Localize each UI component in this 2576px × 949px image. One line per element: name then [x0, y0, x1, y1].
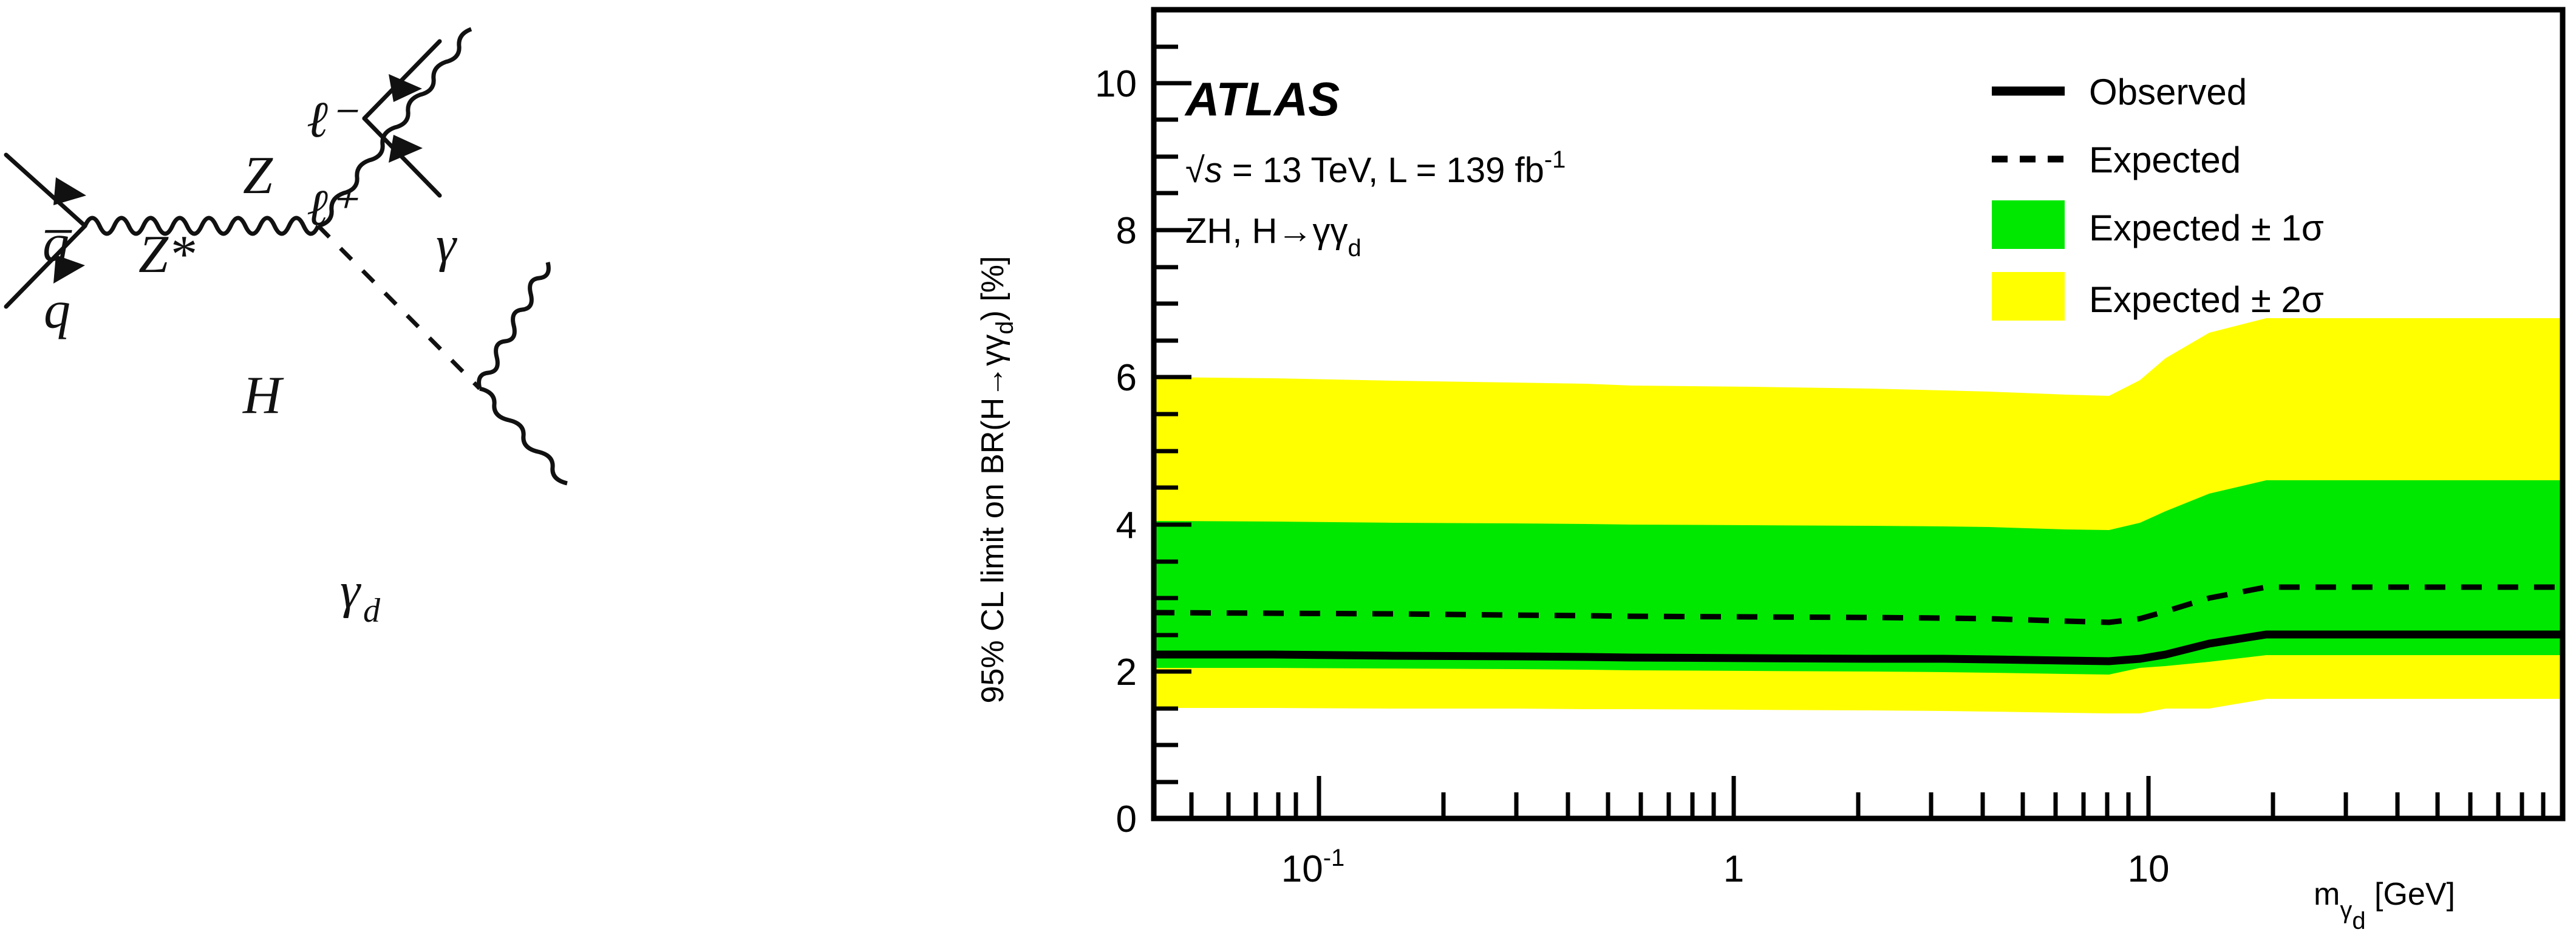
- lepton-minus-label: ℓ⁻: [307, 92, 358, 148]
- y-tick-10: 10: [1095, 63, 1137, 105]
- y-title-arrow: →: [975, 366, 1010, 398]
- z-boson-label: Z: [243, 146, 273, 205]
- feynman-background: [0, 0, 972, 949]
- process-part-a: ZH, H: [1185, 211, 1277, 251]
- x-title-sub-gamma: γ: [2340, 897, 2352, 923]
- energy-lumi-text: = 13 TeV, L = 139 fb: [1222, 151, 1544, 190]
- lepton-plus-label: ℓ⁺: [307, 180, 358, 236]
- energy-lumi-line: √s = 13 TeV, L = 139 fb-1: [1185, 146, 1566, 190]
- y-tick-6: 6: [1116, 357, 1137, 399]
- feynman-diagram-panel: q̅ q Z* Z ℓ⁻ ℓ⁺ H γ γ d: [0, 0, 972, 949]
- process-sub-d: d: [1348, 235, 1361, 262]
- atlas-label: ATLAS: [1184, 72, 1340, 126]
- sqrt-s-symbol: √s: [1185, 151, 1222, 190]
- y-tick-8: 8: [1116, 210, 1137, 252]
- y-title-sub-d: d: [992, 321, 1018, 334]
- lumi-exponent: -1: [1544, 146, 1566, 173]
- x-title-sub-d: d: [2352, 908, 2365, 934]
- y-tick-4: 4: [1116, 505, 1137, 546]
- y-title-close: ) [%]: [975, 256, 1010, 321]
- y-tick-0: 0: [1116, 798, 1137, 840]
- legend-label-observed: Observed: [2089, 72, 2247, 112]
- x-tick-10: 10: [2128, 848, 2170, 890]
- process-part-b: γγ: [1312, 211, 1348, 251]
- figure-root: q̅ q Z* Z ℓ⁻ ℓ⁺ H γ γ d 95% CL limit on …: [0, 0, 2576, 949]
- higgs-label: H: [242, 366, 284, 425]
- y-title-part-a: 95% CL limit on BR(H: [975, 398, 1010, 704]
- svg-text:d: d: [363, 592, 381, 630]
- legend-label-expected: Expected: [2089, 140, 2241, 180]
- legend-marker-2sigma: [1992, 272, 2065, 321]
- antiquark-label: q̅: [43, 214, 72, 273]
- legend-marker-1sigma: [1992, 200, 2065, 249]
- legend-label-1sigma: Expected ± 1σ: [2089, 208, 2324, 248]
- legend-label-2sigma: Expected ± 2σ: [2089, 279, 2324, 320]
- x-tick-0p1-mantissa: 10: [1281, 848, 1323, 890]
- z-star-label: Z*: [138, 225, 195, 284]
- limit-plot-panel: 95% CL limit on BR(H→γγd) [%]: [972, 0, 2576, 949]
- x-tick-1: 1: [1723, 848, 1744, 890]
- photon-label: γ: [436, 216, 457, 273]
- x-title-unit: [GeV]: [2366, 877, 2455, 912]
- y-title-gg: γγ: [975, 335, 1010, 366]
- x-title-m: m: [2314, 877, 2340, 912]
- x-tick-0p1-exponent: -1: [1323, 845, 1345, 871]
- y-tick-2: 2: [1116, 651, 1137, 693]
- svg-text:γ: γ: [340, 562, 361, 619]
- process-arrow: →: [1277, 211, 1312, 251]
- quark-label: q: [44, 281, 70, 340]
